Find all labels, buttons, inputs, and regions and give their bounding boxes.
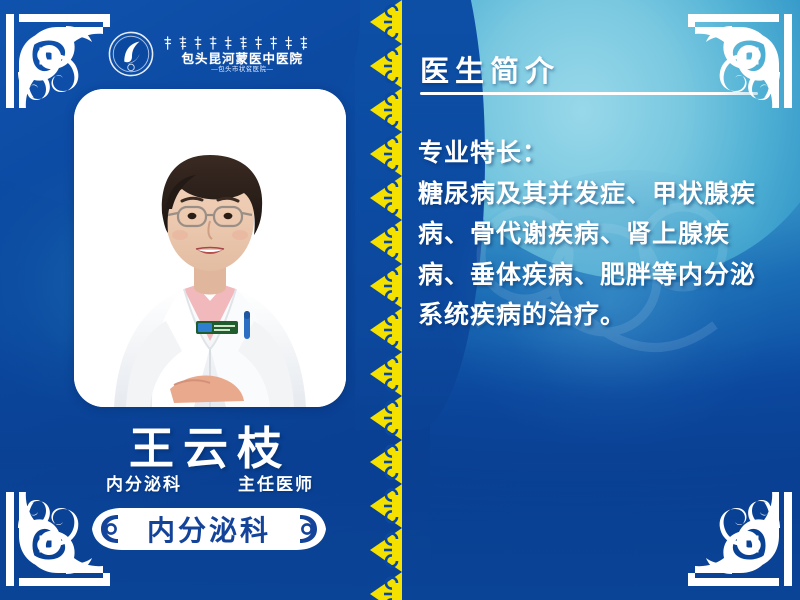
specialty-body: 糖尿病及其并发症、甲状腺疾病、骨代谢疾病、肾上腺疾病、垂体疾病、肥胖等内分泌系统… <box>418 179 756 330</box>
doctor-name: 王云枝 <box>0 412 420 477</box>
department-badge-label: 内分泌科 <box>88 503 330 555</box>
hospital-name-cn: 包头昆河蒙医中医院 <box>182 53 304 66</box>
doctor-profile-poster: 包头昆河蒙医中医院 —包头市状贫医院— <box>0 0 800 600</box>
doctor-photo-card <box>74 89 346 407</box>
mongolian-scroll-corner-icon <box>6 492 110 586</box>
mongolian-scroll-corner-icon <box>688 492 792 586</box>
doctor-department: 内分泌科 <box>106 470 182 495</box>
mongolian-scroll-corner-icon <box>688 14 792 108</box>
page-title: 医生简介 <box>420 48 560 90</box>
mongolian-zigzag-pattern-icon <box>364 0 406 600</box>
corner-ornament-bottom-left <box>6 492 110 586</box>
mongolian-script-icon <box>162 35 323 52</box>
corner-ornament-top-right <box>688 14 792 108</box>
mongolian-pattern-divider <box>364 0 406 600</box>
hospital-subtitle-cn: —包头市状贫医院— <box>211 67 273 74</box>
hospital-logo: 包头昆河蒙医中医院 —包头市状贫医院— <box>108 26 338 82</box>
department-badge: 内分泌科 <box>88 503 330 555</box>
doctor-portrait <box>74 89 346 407</box>
specialty-heading: 专业特长： <box>418 133 768 174</box>
corner-ornament-top-left <box>6 14 110 108</box>
mongolian-scroll-corner-icon <box>6 14 110 108</box>
hospital-emblem-icon <box>108 31 154 77</box>
corner-ornament-bottom-right <box>688 492 792 586</box>
specialty-section: 专业特长： 糖尿病及其并发症、甲状腺疾病、骨代谢疾病、肾上腺疾病、垂体疾病、肥胖… <box>418 133 768 336</box>
doctor-title: 主任医师 <box>238 470 314 495</box>
